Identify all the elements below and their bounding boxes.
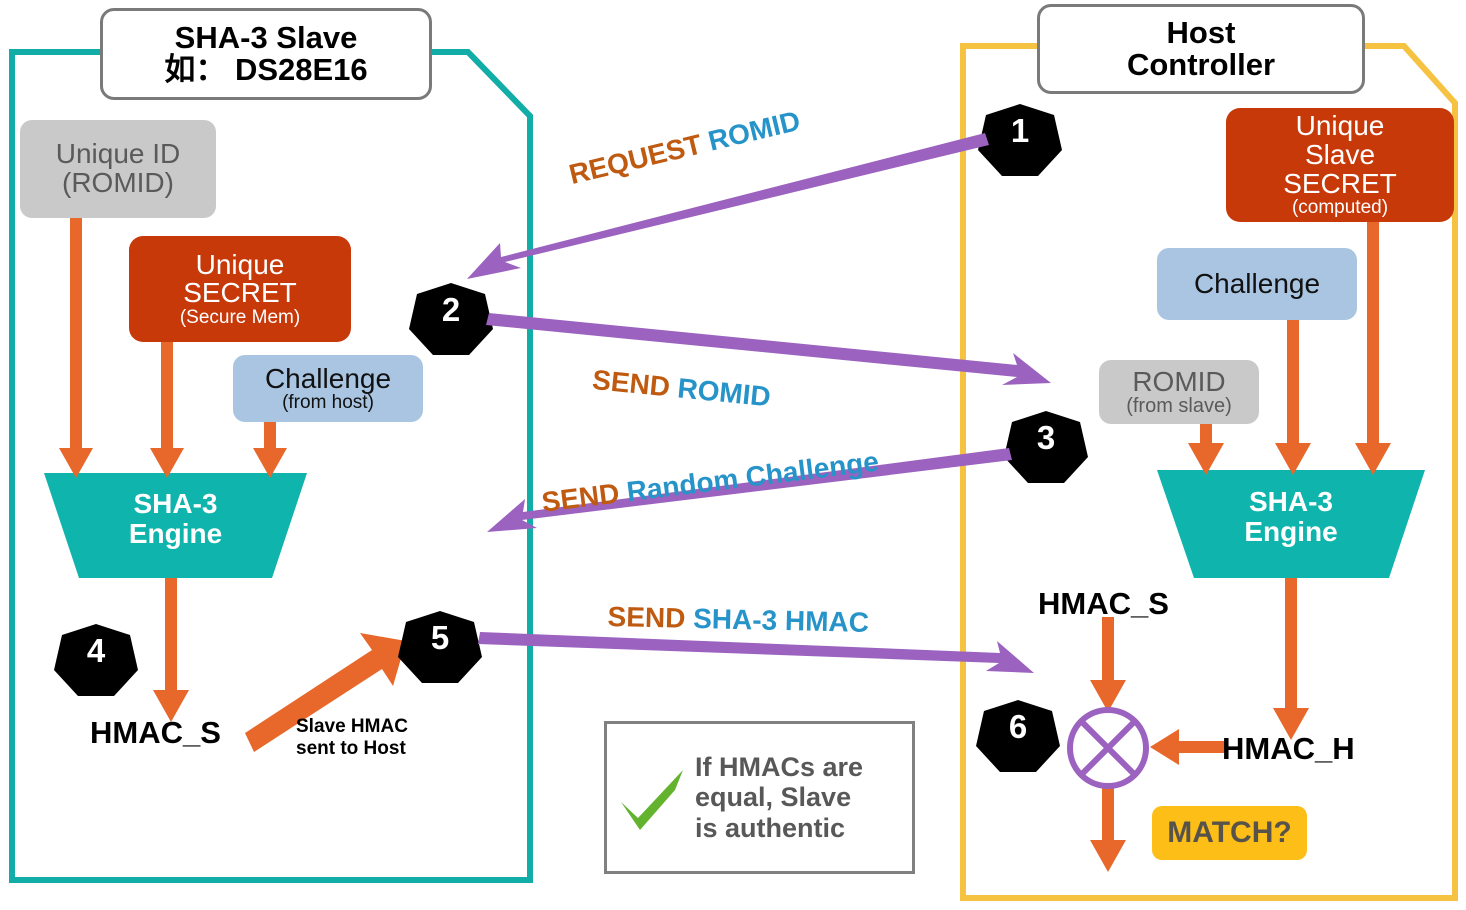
legend-line1: If HMACs are: [695, 752, 863, 782]
slave-title-callout: SHA-3 Slave 如： DS28E16: [100, 8, 432, 100]
step-number-5: 5: [408, 619, 472, 657]
match-badge: MATCH?: [1152, 806, 1307, 860]
legend-line2: equal, Slave: [695, 782, 863, 812]
message-label-send-sha3-hmac: SEND SHA-3 HMAC: [607, 601, 869, 639]
message-4-verb: SEND: [607, 601, 693, 634]
slave-title-line2: 如： DS28E16: [164, 54, 367, 86]
slave-title-line1: SHA-3 Slave: [175, 22, 358, 54]
arrow-request-romid: [467, 133, 989, 279]
step-number-4: 4: [64, 632, 128, 670]
message-4-object: SHA-3 HMAC: [693, 603, 869, 638]
check-mark-icon: [611, 756, 695, 840]
host-title-line1: Host: [1167, 17, 1236, 49]
step-number-3: 3: [1014, 419, 1078, 457]
step-number-2: 2: [419, 291, 483, 329]
diagram-canvas: SHA-3 Slave 如： DS28E16 Host Controller U…: [0, 0, 1466, 910]
step-number-1: 1: [988, 112, 1052, 150]
arrow-send-sha3-hmac: [478, 632, 1034, 673]
host-title-callout: Host Controller: [1037, 4, 1365, 94]
legend-box: If HMACs are equal, Slave is authentic: [604, 721, 915, 874]
host-title-line2: Controller: [1127, 49, 1275, 81]
legend-text: If HMACs are equal, Slave is authentic: [695, 752, 863, 843]
arrow-send-romid: [486, 313, 1051, 385]
step-number-6: 6: [986, 708, 1050, 746]
legend-line3: is authentic: [695, 813, 863, 843]
